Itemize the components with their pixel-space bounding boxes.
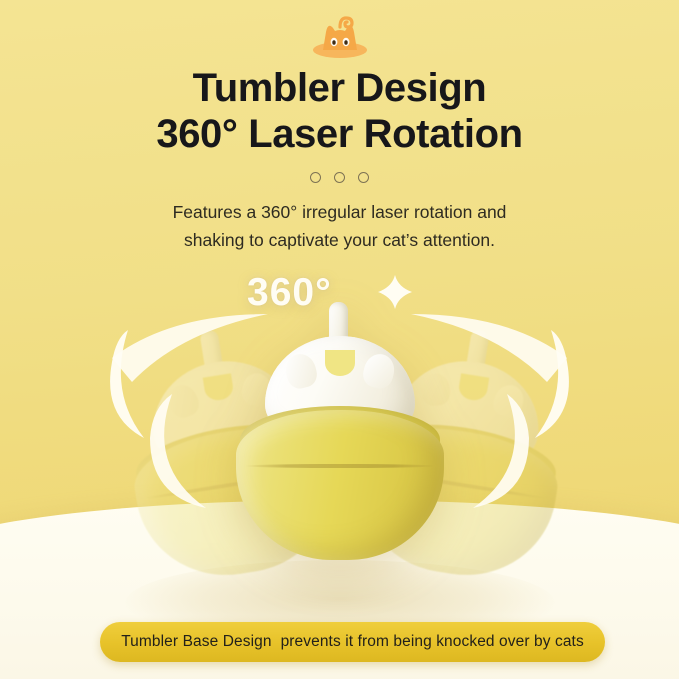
ear-right (489, 381, 528, 422)
product-main (236, 314, 444, 582)
headline-line-1: Tumbler Design (193, 66, 487, 110)
subtitle: Features a 360° irregular laser rotation… (0, 198, 679, 255)
banner-rest-text: prevents it from being knocked over by c… (281, 633, 584, 651)
promo-scene: Tumbler Design 360° Laser Rotation Featu… (0, 0, 679, 679)
tumbler-base (236, 410, 444, 560)
ear-right (360, 351, 397, 391)
bottom-banner: Tumbler Base Design prevents it from bei… (100, 622, 605, 662)
head-notch (325, 350, 355, 376)
page-title: Tumbler Design 360° Laser Rotation (0, 66, 679, 157)
product-stage (0, 300, 679, 610)
subtitle-line-1: Features a 360° irregular laser rotation… (173, 202, 507, 222)
subtitle-line-2: shaking to captivate your cat’s attentio… (0, 226, 679, 254)
ear-left (164, 381, 203, 422)
separator-dot (310, 172, 321, 183)
separator-dot (358, 172, 369, 183)
ear-left (282, 351, 319, 391)
head-notch (203, 373, 235, 402)
banner-bold-text: Tumbler Base Design (121, 633, 271, 651)
headline-line-2: 360° Laser Rotation (0, 112, 679, 158)
base-seam (244, 464, 435, 468)
cat-head-icon (310, 14, 370, 60)
separator-dot (334, 172, 345, 183)
head-notch (457, 373, 489, 402)
dot-separator (0, 172, 679, 183)
